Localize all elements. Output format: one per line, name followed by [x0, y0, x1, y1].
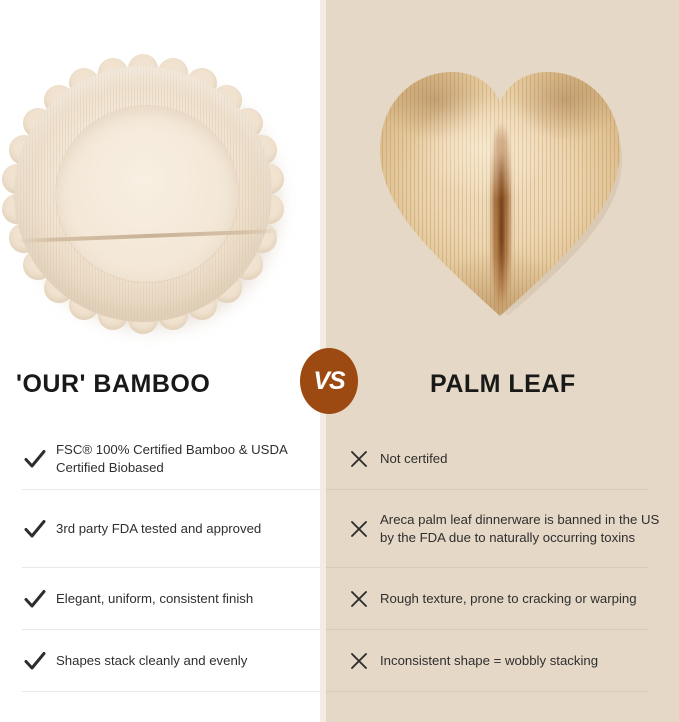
check-icon [14, 651, 56, 671]
vs-badge-label: VS [313, 369, 344, 394]
left-feature-text: FSC® 100% Certified Bamboo & USDA Certif… [56, 441, 302, 477]
comparison-cell-left: FSC® 100% Certified Bamboo & USDA Certif… [0, 428, 320, 490]
hero-images [0, 0, 679, 344]
comparison-cell-right: Areca palm leaf dinnerware is banned in … [326, 490, 679, 568]
bamboo-plate-well [56, 106, 238, 282]
right-feature-text: Not certifed [380, 450, 447, 468]
comparison-cell-right: Rough texture, prone to cracking or warp… [326, 568, 679, 630]
palm-leaf-plate-image [362, 44, 652, 336]
right-product-title: PALM LEAF [430, 370, 576, 399]
bamboo-plate-image [8, 62, 288, 340]
comparison-cell-right: Not certifed [326, 428, 679, 490]
comparison-cell-left: Shapes stack cleanly and evenly [0, 630, 320, 692]
cross-icon [338, 449, 380, 469]
comparison-row: FSC® 100% Certified Bamboo & USDA Certif… [0, 428, 679, 490]
right-feature-text: Areca palm leaf dinnerware is banned in … [380, 511, 663, 547]
palm-plate-body [374, 52, 626, 318]
comparison-row: Elegant, uniform, consistent finishRough… [0, 568, 679, 630]
cross-icon [338, 519, 380, 539]
comparison-rows: FSC® 100% Certified Bamboo & USDA Certif… [0, 428, 679, 722]
check-icon [14, 589, 56, 609]
left-feature-text: 3rd party FDA tested and approved [56, 520, 261, 538]
comparison-cell-left: Elegant, uniform, consistent finish [0, 568, 320, 630]
bamboo-plate-body [14, 66, 272, 322]
left-feature-text: Elegant, uniform, consistent finish [56, 590, 253, 608]
comparison-row: 3rd party FDA tested and approvedAreca p… [0, 490, 679, 568]
right-feature-text: Inconsistent shape = wobbly stacking [380, 652, 598, 670]
left-product-title: 'OUR' BAMBOO [16, 370, 210, 399]
comparison-row: Shapes stack cleanly and evenlyInconsist… [0, 630, 679, 692]
comparison-cell-left: 3rd party FDA tested and approved [0, 490, 320, 568]
check-icon [14, 449, 56, 469]
row-divider-left [22, 691, 320, 692]
cross-icon [338, 589, 380, 609]
right-feature-text: Rough texture, prone to cracking or warp… [380, 590, 637, 608]
row-divider-right [326, 691, 648, 692]
palm-plate-highlight [374, 52, 626, 318]
comparison-infographic: 'OUR' BAMBOO PALM LEAF VS FSC® 100% Cert… [0, 0, 679, 722]
cross-icon [338, 651, 380, 671]
comparison-cell-right: Inconsistent shape = wobbly stacking [326, 630, 679, 692]
vs-badge: VS [300, 348, 358, 414]
check-icon [14, 519, 56, 539]
left-feature-text: Shapes stack cleanly and evenly [56, 652, 247, 670]
